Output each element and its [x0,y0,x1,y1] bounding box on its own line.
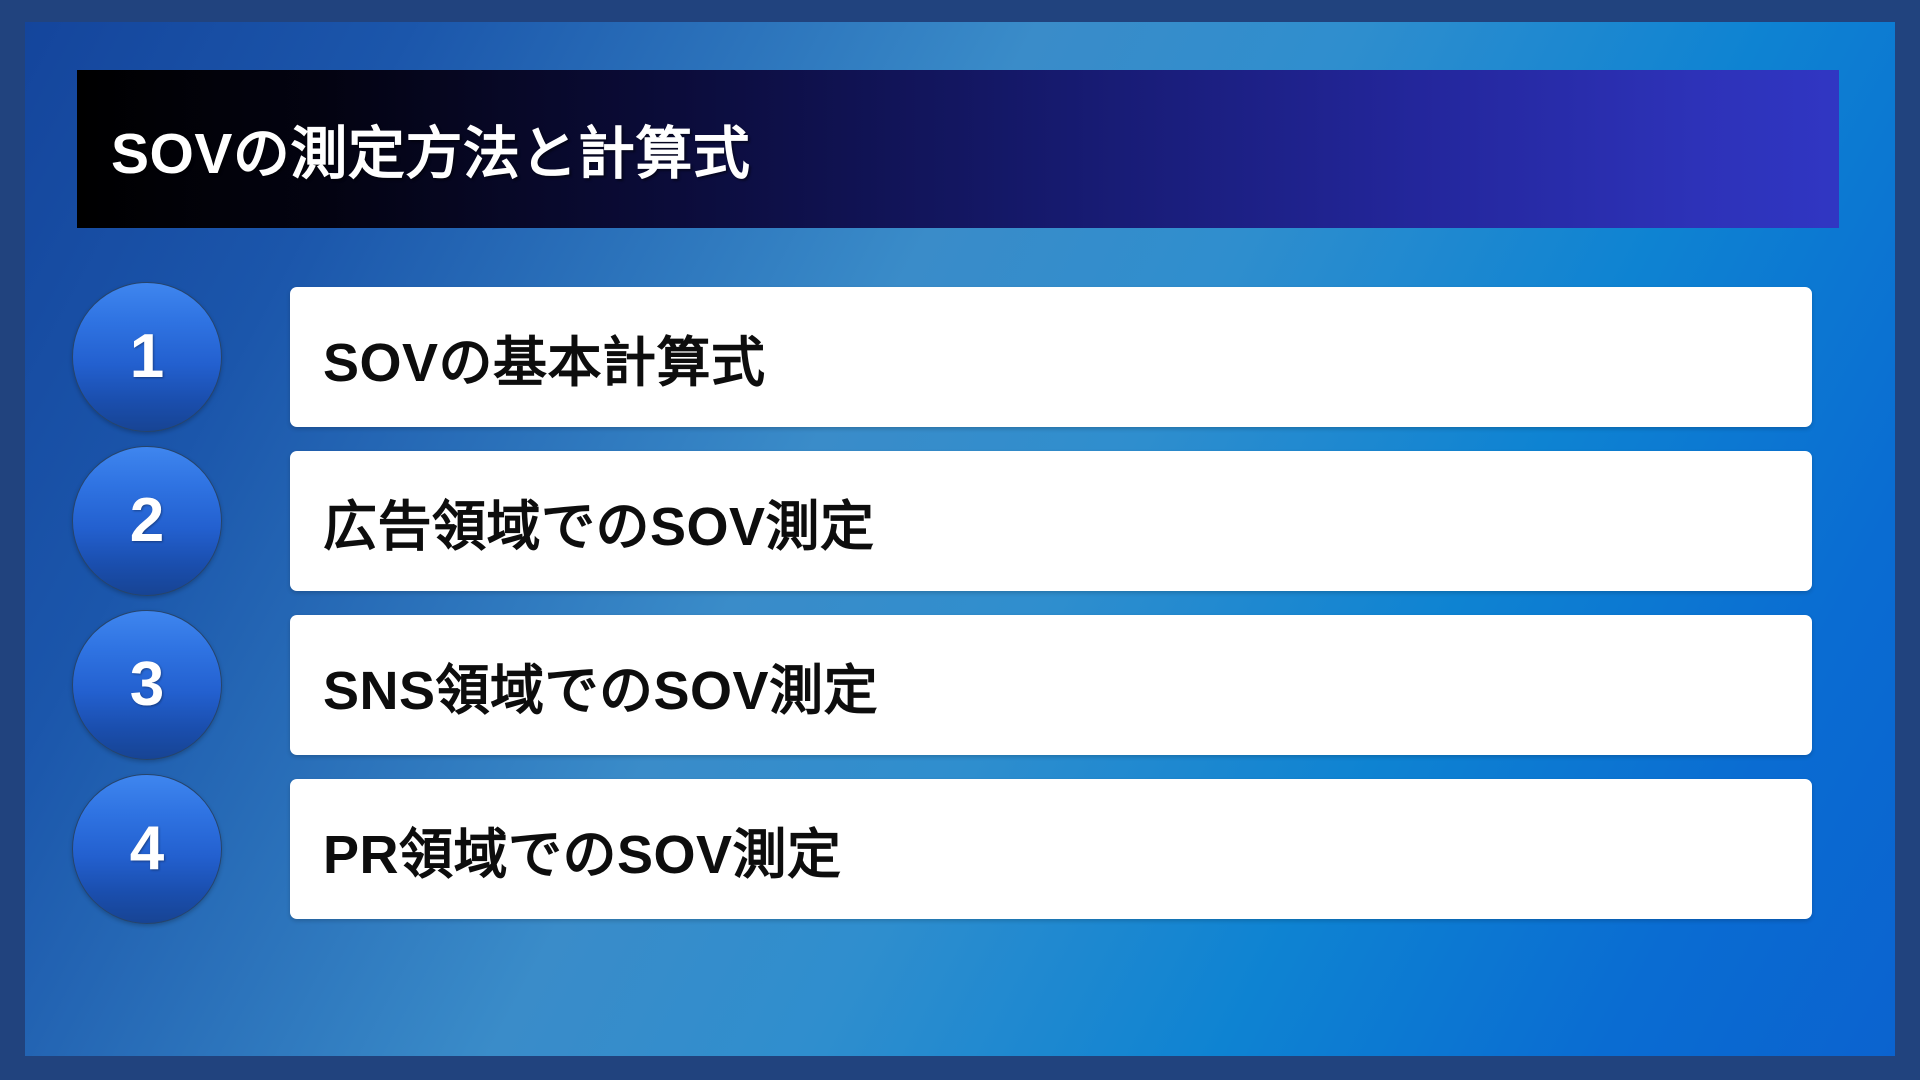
agenda-card-label: PR領域でのSOV測定 [323,810,842,889]
step-number-badge: 3 [72,610,222,760]
step-number-badge: 2 [72,446,222,596]
agenda-list: 1 SOVの基本計算式 2 広告領域でのSOV測定 3 SN [25,287,1895,919]
step-number-badge: 1 [72,282,222,432]
page-title: SOVの測定方法と計算式 [111,108,750,190]
list-item[interactable]: 3 SNS領域でのSOV測定 [25,615,1895,755]
agenda-card-label: SOVの基本計算式 [323,318,766,397]
agenda-card[interactable]: 広告領域でのSOV測定 [290,451,1812,591]
list-item[interactable]: 2 広告領域でのSOV測定 [25,451,1895,591]
agenda-card-label: 広告領域でのSOV測定 [323,482,875,561]
list-item[interactable]: 4 PR領域でのSOV測定 [25,779,1895,919]
step-number-label: 2 [130,490,164,552]
slide-canvas: SOVの測定方法と計算式 1 SOVの基本計算式 2 広告領域でのSOV測定 [25,22,1895,1056]
agenda-card[interactable]: PR領域でのSOV測定 [290,779,1812,919]
slide-frame: SOVの測定方法と計算式 1 SOVの基本計算式 2 広告領域でのSOV測定 [0,0,1920,1080]
agenda-card-label: SNS領域でのSOV測定 [323,646,878,725]
title-banner: SOVの測定方法と計算式 [77,70,1839,228]
step-number-label: 4 [130,818,164,880]
list-item[interactable]: 1 SOVの基本計算式 [25,287,1895,427]
step-number-label: 3 [130,654,164,716]
step-number-label: 1 [130,326,164,388]
agenda-card[interactable]: SOVの基本計算式 [290,287,1812,427]
step-number-badge: 4 [72,774,222,924]
agenda-card[interactable]: SNS領域でのSOV測定 [290,615,1812,755]
